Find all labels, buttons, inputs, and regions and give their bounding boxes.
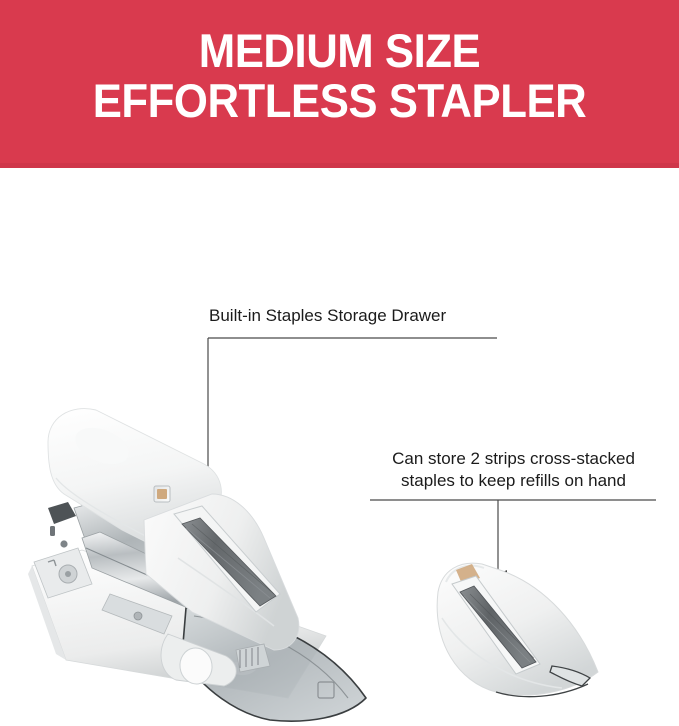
infographic-page: MEDIUM SIZE EFFORTLESS STAPLER Built-in …	[0, 0, 679, 726]
product-photo-stapler-inset	[412, 556, 630, 722]
callout-label-two-strip-capacity-line-2: staples to keep refills on hand	[371, 470, 656, 492]
callout-label-two-strip-capacity: Can store 2 strips cross-stacked staples…	[371, 448, 656, 492]
callout-label-two-strip-capacity-line-1: Can store 2 strips cross-stacked	[371, 448, 656, 470]
banner-title-line-1: MEDIUM SIZE	[24, 26, 655, 76]
banner-title-line-2: EFFORTLESS STAPLER	[24, 76, 655, 126]
banner-title: MEDIUM SIZE EFFORTLESS STAPLER	[24, 26, 655, 126]
header-banner: MEDIUM SIZE EFFORTLESS STAPLER	[0, 0, 679, 168]
callout-label-storage-drawer: Built-in Staples Storage Drawer	[209, 305, 446, 327]
product-photo-stapler-main	[26, 398, 386, 724]
banner-bottom-rule	[0, 163, 679, 168]
